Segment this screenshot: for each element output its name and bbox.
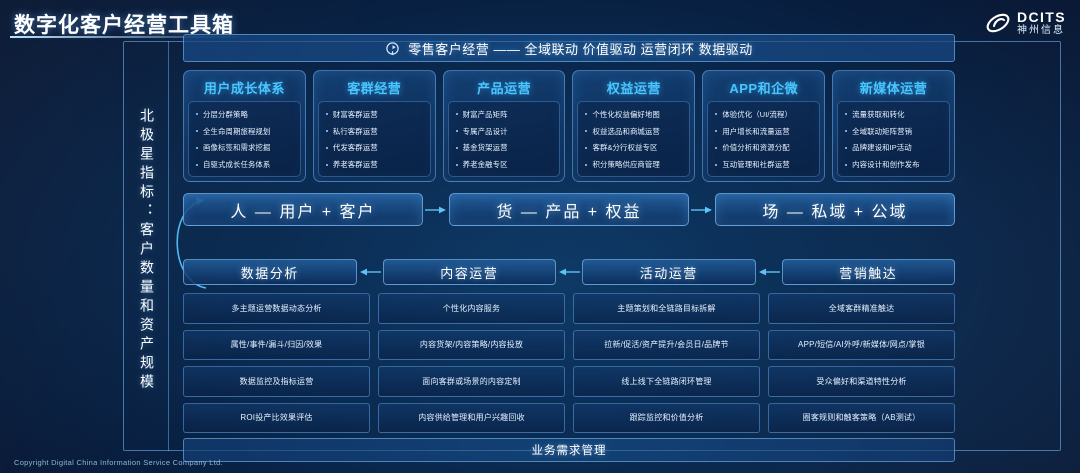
grid-cell[interactable]: 内容供给管理和用户兴趣回收: [378, 403, 565, 434]
pillar-item: 客群&分行权益专区: [583, 143, 686, 152]
pillar-card[interactable]: 权益运营 个性化权益偏好地图 权益选品和商城运营 客群&分行权益专区 积分策略供…: [572, 70, 695, 182]
arrow-left-icon: [558, 266, 580, 278]
grid-cell[interactable]: 圈客规则和触客策略（AB测试）: [768, 403, 955, 434]
brand-logo: DCITS 神州信息: [985, 10, 1066, 36]
pillar-item: 专属产品设计: [454, 127, 557, 136]
rhs-box-people[interactable]: 人 — 用户 + 客户: [183, 193, 423, 226]
logo-text-cn: 神州信息: [1017, 26, 1066, 36]
grid-cell[interactable]: 线上线下全链路闭环管理: [573, 366, 760, 397]
retail-customer-banner: 零售客户经营 —— 全域联动 价值驱动 运营闭环 数据驱动: [183, 34, 955, 62]
grid-cell[interactable]: 拉新/促活/资产提升/会员日/品牌节: [573, 330, 760, 361]
grid-cell[interactable]: 跟踪监控和价值分析: [573, 403, 760, 434]
pillar-item: 品牌建设和IP活动: [843, 143, 946, 152]
pillar-item: 互动管理和社群运营: [713, 160, 816, 169]
operation-detail-grid: 多主题运营数据动态分析 属性/事件/漏斗/归因/效果 数据监控及指标运营 ROI…: [183, 293, 955, 433]
grid-cell[interactable]: 个性化内容服务: [378, 293, 565, 324]
pillar-item: 财富客群运营: [324, 110, 427, 119]
grid-cell[interactable]: 面向客群或场景的内容定制: [378, 366, 565, 397]
pillar-card[interactable]: 客群经营 财富客群运营 私行客群运营 代发客群运营 养老客群运营: [313, 70, 436, 182]
copyright-text: Copyright Digital China Information Serv…: [14, 458, 223, 467]
rhs-box-place[interactable]: 场 — 私域 + 公域: [715, 193, 955, 226]
grid-cell[interactable]: APP/短信/AI外呼/新媒体/网点/掌银: [768, 330, 955, 361]
pillar-item: 价值分析和资源分配: [713, 143, 816, 152]
pillar-item: 养老客群运营: [324, 160, 427, 169]
pillar-card[interactable]: APP和企微 体验优化（UI/流程） 用户增长和流量运营 价值分析和资源分配 互…: [702, 70, 825, 182]
grid-column-outreach: 全域客群精准触达 APP/短信/AI外呼/新媒体/网点/掌银 受众偏好和渠道特性…: [768, 293, 955, 433]
operation-header-content[interactable]: 内容运营: [383, 259, 557, 285]
pillar-card-title: 客群经营: [318, 76, 431, 101]
pillar-item: 流量获取和转化: [843, 110, 946, 119]
grid-cell[interactable]: 多主题运营数据动态分析: [183, 293, 370, 324]
people-goods-place-row: 人 — 用户 + 客户 货 — 产品 + 权益 场 — 私域 + 公域: [183, 193, 955, 226]
operation-header-outreach[interactable]: 营销触达: [782, 259, 956, 285]
pillar-item: 私行客群运营: [324, 127, 427, 136]
pillar-item: 财富产品矩阵: [454, 110, 557, 119]
pillar-item: 积分策略供应商管理: [583, 160, 686, 169]
pillar-card-body: 财富客群运营 私行客群运营 代发客群运营 养老客群运营: [318, 101, 431, 177]
grid-cell[interactable]: 数据监控及指标运营: [183, 366, 370, 397]
grid-cell[interactable]: ROI投产比效果评估: [183, 403, 370, 434]
pillar-card-body: 财富产品矩阵 专属产品设计 基金货架运营 养老金融专区: [448, 101, 561, 177]
pillar-card[interactable]: 新媒体运营 流量获取和转化 全域联动矩阵营销 品牌建设和IP活动 内容设计和创作…: [832, 70, 955, 182]
pillar-item: 分层分群策略: [194, 110, 297, 119]
pillar-item: 用户增长和流量运营: [713, 127, 816, 136]
rhs-arrow-1: [423, 204, 449, 216]
grid-cell[interactable]: 受众偏好和渠道特性分析: [768, 366, 955, 397]
circular-arrow-icon: [385, 41, 400, 56]
pillar-card[interactable]: 产品运营 财富产品矩阵 专属产品设计 基金货架运营 养老金融专区: [443, 70, 566, 182]
operation-header-data-analysis[interactable]: 数据分析: [183, 259, 357, 285]
grid-cell[interactable]: 内容货架/内容策略/内容投放: [378, 330, 565, 361]
pillar-item: 权益选品和商城运营: [583, 127, 686, 136]
grid-cell[interactable]: 全域客群精准触达: [768, 293, 955, 324]
pillar-item: 全生命周期旅程规划: [194, 127, 297, 136]
pillar-card-title: 权益运营: [577, 76, 690, 101]
logo-text-en: DCITS: [1017, 10, 1066, 24]
operation-header-campaign[interactable]: 活动运营: [582, 259, 756, 285]
pillar-item: 个性化权益偏好地图: [583, 110, 686, 119]
pillar-item: 自驱式成长任务体系: [194, 160, 297, 169]
grid-column-campaign: 主题策划和全链路目标拆解 拉新/促活/资产提升/会员日/品牌节 线上线下全链路闭…: [573, 293, 760, 433]
pillar-card-title: 新媒体运营: [837, 76, 950, 101]
arrow-left-icon: [758, 266, 780, 278]
pillar-card-title: APP和企微: [707, 76, 820, 101]
business-requirement-bar[interactable]: 业务需求管理: [183, 438, 955, 462]
rhs-box-goods[interactable]: 货 — 产品 + 权益: [449, 193, 689, 226]
arrow-right-icon: [691, 204, 713, 216]
op-arrow-2: [556, 266, 582, 278]
arrow-right-icon: [425, 204, 447, 216]
dcits-swoosh-icon: [985, 10, 1011, 36]
pillar-card-row: 用户成长体系 分层分群策略 全生命周期旅程规划 画像标签和需求挖掘 自驱式成长任…: [183, 70, 955, 182]
operation-header-row: 数据分析 内容运营 活动运营 营销触达: [183, 259, 955, 285]
pillar-card-body: 体验优化（UI/流程） 用户增长和流量运营 价值分析和资源分配 互动管理和社群运…: [707, 101, 820, 177]
pillar-item: 全域联动矩阵营销: [843, 127, 946, 136]
pillar-card-body: 流量获取和转化 全域联动矩阵营销 品牌建设和IP活动 内容设计和创作发布: [837, 101, 950, 177]
pillar-item: 养老金融专区: [454, 160, 557, 169]
pillar-item: 代发客群运营: [324, 143, 427, 152]
rhs-arrow-2: [689, 204, 715, 216]
grid-column-content: 个性化内容服务 内容货架/内容策略/内容投放 面向客群或场景的内容定制 内容供给…: [378, 293, 565, 433]
op-arrow-1: [357, 266, 383, 278]
pillar-item: 基金货架运营: [454, 143, 557, 152]
grid-cell[interactable]: 属性/事件/漏斗/归因/效果: [183, 330, 370, 361]
banner-text: 零售客户经营 —— 全域联动 价值驱动 运营闭环 数据驱动: [408, 39, 753, 58]
pillar-card-title: 产品运营: [448, 76, 561, 101]
grid-column-data-analysis: 多主题运营数据动态分析 属性/事件/漏斗/归因/效果 数据监控及指标运营 ROI…: [183, 293, 370, 433]
pillar-item: 画像标签和需求挖掘: [194, 143, 297, 152]
pillar-card[interactable]: 用户成长体系 分层分群策略 全生命周期旅程规划 画像标签和需求挖掘 自驱式成长任…: [183, 70, 306, 182]
grid-cell[interactable]: 主题策划和全链路目标拆解: [573, 293, 760, 324]
pillar-item: 内容设计和创作发布: [843, 160, 946, 169]
op-arrow-3: [756, 266, 782, 278]
pillar-card-title: 用户成长体系: [188, 76, 301, 101]
arrow-left-icon: [359, 266, 381, 278]
pillar-item: 体验优化（UI/流程）: [713, 110, 816, 119]
pillar-card-body: 分层分群策略 全生命周期旅程规划 画像标签和需求挖掘 自驱式成长任务体系: [188, 101, 301, 177]
pillar-card-body: 个性化权益偏好地图 权益选品和商城运营 客群&分行权益专区 积分策略供应商管理: [577, 101, 690, 177]
